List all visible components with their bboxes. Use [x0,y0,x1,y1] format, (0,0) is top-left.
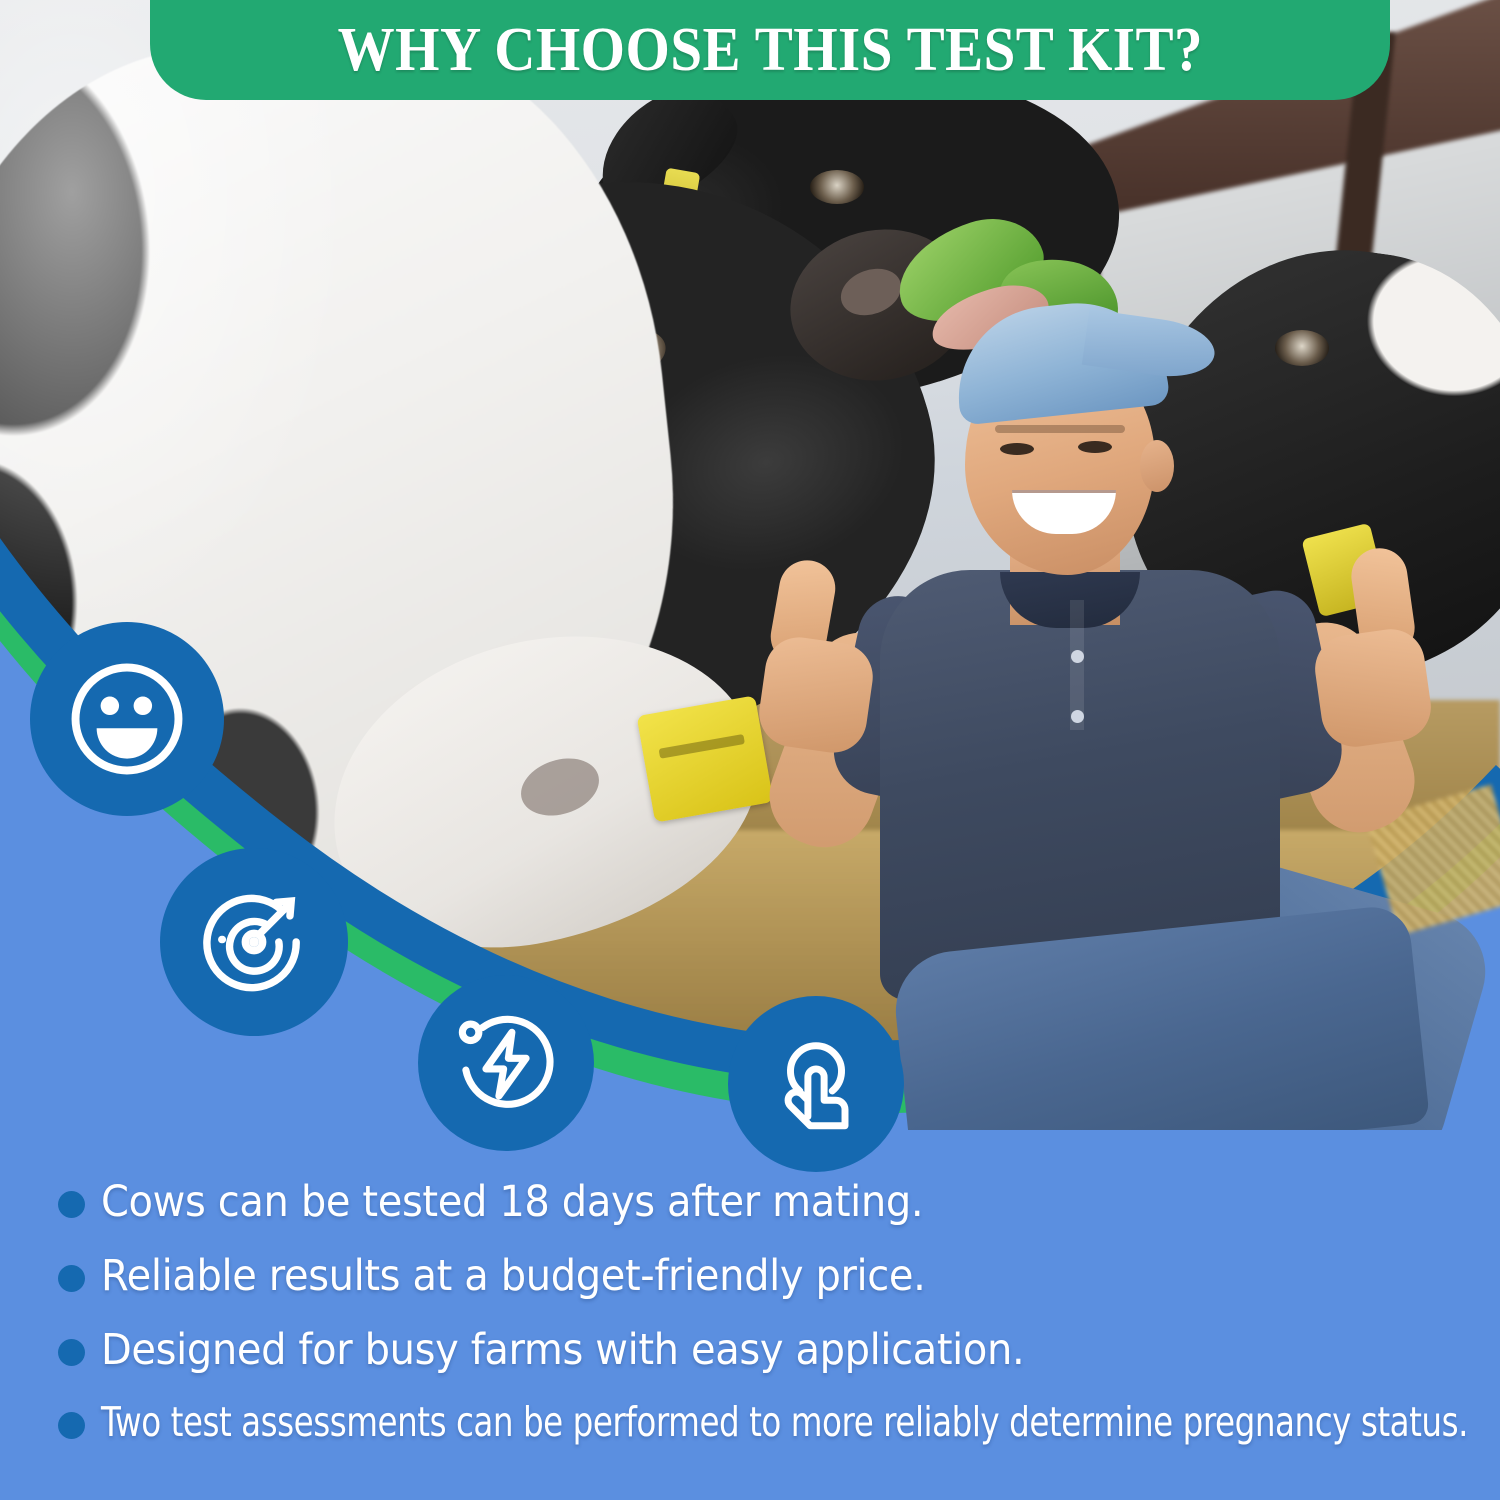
photo-man-button-2 [1071,710,1084,723]
bullet-text: Two test assessments can be performed to… [101,1400,1468,1446]
list-item: Cows can be tested 18 days after mating. [58,1178,1478,1226]
photo-man-button-1 [1071,650,1084,663]
feature-bullet-list: Cows can be tested 18 days after mating.… [58,1178,1478,1472]
promo-poster: WHY CHOOSE THIS TEST KIT? [0,0,1500,1500]
photo-man-eye-left [1000,443,1034,455]
feature-node-accuracy[interactable] [160,848,348,1036]
list-item: Designed for busy farms with easy applic… [58,1326,1478,1374]
feature-node-speed[interactable] [418,975,594,1151]
feature-node-ease[interactable] [728,996,904,1172]
target-arrow-icon [192,880,316,1004]
lightning-bolt-icon [447,1004,565,1122]
bullet-text: Designed for busy farms with easy applic… [101,1326,1024,1374]
photo-man-eye-right [1078,441,1112,453]
feature-node-satisfaction[interactable] [30,622,224,816]
bullet-dot-icon [58,1265,85,1292]
header-banner: WHY CHOOSE THIS TEST KIT? [150,0,1390,100]
list-item: Two test assessments can be performed to… [58,1400,1478,1446]
photo-ear-tag-left [637,695,774,822]
tap-hand-icon [758,1026,874,1142]
bullet-text: Cows can be tested 18 days after mating. [101,1178,923,1226]
photo-cow-top-eye [810,170,864,204]
photo-man-fist-right [1311,625,1436,751]
bullet-dot-icon [58,1412,85,1439]
list-item: Reliable results at a budget-friendly pr… [58,1252,1478,1300]
bullet-dot-icon [58,1339,85,1366]
photo-man-ear [1140,440,1174,492]
smiley-face-icon [61,653,193,785]
page-title: WHY CHOOSE THIS TEST KIT? [337,15,1202,100]
photo-cow-right-eye [1275,330,1329,366]
photo-man-brow [995,425,1125,433]
bullet-text: Reliable results at a budget-friendly pr… [101,1252,925,1300]
bullet-dot-icon [58,1191,85,1218]
photo-man-fist-left [755,633,877,757]
